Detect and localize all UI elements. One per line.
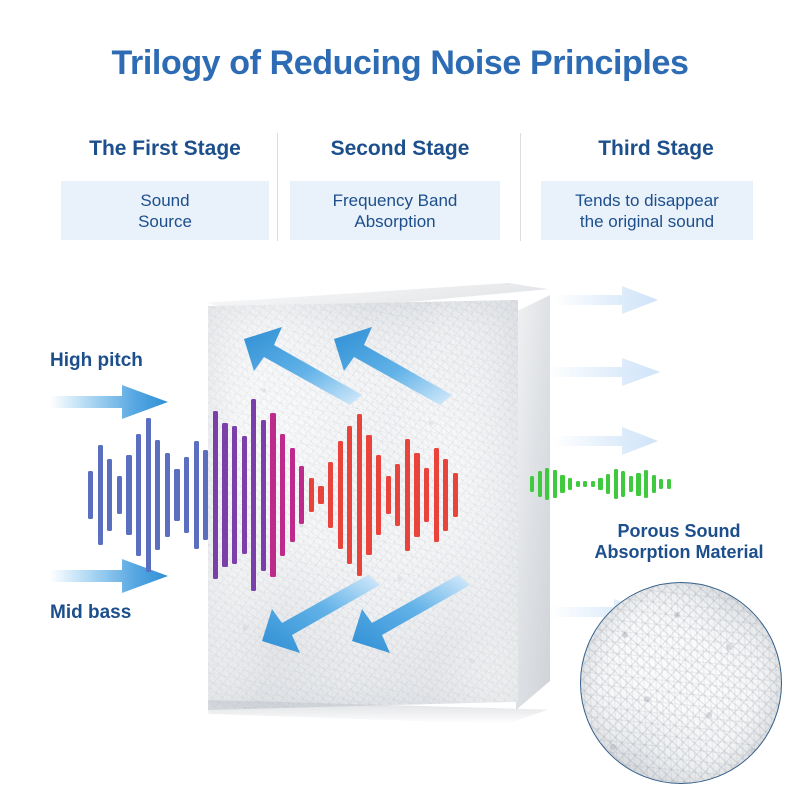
waveform-bar — [443, 459, 448, 531]
waveform-bar — [232, 426, 237, 564]
stage-box-first-line1: Sound — [138, 190, 192, 211]
waveform-bar — [591, 481, 595, 487]
waveform-bar — [453, 473, 458, 517]
stage-box-third: Tends to disappear the original sound — [541, 181, 753, 240]
stage-box-third-line2: the original sound — [575, 211, 719, 232]
waveform-bar — [117, 476, 122, 514]
waveform-bar — [299, 466, 304, 525]
waveform-bar — [395, 464, 400, 525]
waveform-bar — [155, 440, 160, 550]
label-high-pitch: High pitch — [50, 350, 143, 372]
stage-box-second-line1: Frequency Band — [333, 190, 458, 211]
stage-box-second-line2: Absorption — [333, 211, 458, 232]
stage-box-first: Sound Source — [61, 181, 269, 240]
page-title: Trilogy of Reducing Noise Principles — [0, 44, 800, 83]
stage-divider-2 — [520, 133, 521, 241]
waveform-bar — [338, 441, 343, 549]
waveform-bar — [644, 470, 648, 498]
waveform-bar — [530, 476, 534, 492]
stage-heading-second: Second Stage — [288, 137, 512, 161]
waveform-bar — [242, 436, 247, 554]
waveform-bar — [386, 476, 391, 514]
stage-heading-third: Third Stage — [532, 137, 780, 161]
waveform-bar — [538, 471, 542, 496]
waveform-bar — [424, 468, 429, 522]
label-porous-line1: Porous Sound — [618, 521, 741, 541]
waveform-bar — [667, 479, 671, 489]
waveform-bar — [606, 474, 610, 495]
waveform-bar — [560, 475, 564, 493]
waveform-bar — [184, 457, 189, 534]
waveform-bar — [126, 455, 131, 534]
waveform-bar — [261, 420, 266, 571]
waveform-bar — [309, 478, 314, 511]
stage-divider-1 — [277, 133, 278, 241]
waveform-bar — [434, 448, 439, 543]
label-mid-bass: Mid bass — [50, 602, 131, 624]
waveform-bar — [376, 455, 381, 534]
stage-box-second: Frequency Band Absorption — [290, 181, 500, 240]
waveform-bar — [614, 469, 618, 499]
waveform-bar — [347, 426, 352, 564]
waveform-bar — [583, 481, 587, 487]
stage-box-third-line1: Tends to disappear — [575, 190, 719, 211]
waveform-bar — [98, 445, 103, 545]
waveform-bar — [290, 448, 295, 543]
stage-heading-first: The First Stage — [60, 137, 270, 161]
waveform-bar — [165, 453, 170, 537]
waveform-bar — [652, 475, 656, 493]
magnified-material-circle — [580, 582, 782, 784]
waveform-bar — [568, 478, 572, 490]
waveform-bar — [194, 441, 199, 549]
waveform-bar — [280, 434, 285, 557]
label-porous-material: Porous Sound Absorption Material — [563, 521, 795, 563]
waveform-bar — [576, 481, 580, 487]
waveform-bar — [136, 434, 141, 557]
waveform-bar — [174, 469, 179, 520]
waveform-bar — [629, 476, 633, 492]
waveform-bar — [405, 439, 410, 552]
waveform-bar — [366, 435, 371, 555]
waveform-bar — [357, 414, 362, 575]
waveform-bar — [553, 470, 557, 498]
waveform-bar — [318, 486, 323, 504]
residual-waveform-chart — [530, 462, 680, 506]
waveform-bar — [598, 478, 602, 490]
stage-box-first-line2: Source — [138, 211, 192, 232]
label-porous-line2: Absorption Material — [594, 542, 763, 562]
sound-waveform-chart — [88, 330, 378, 660]
waveform-bar — [222, 423, 227, 566]
waveform-bar — [251, 399, 256, 591]
infographic-canvas: Trilogy of Reducing Noise Principles The… — [0, 0, 800, 800]
waveform-bar — [88, 471, 93, 520]
waveform-bar — [621, 471, 625, 496]
waveform-bar — [107, 459, 112, 531]
waveform-bar — [146, 418, 151, 572]
waveform-bar — [328, 462, 333, 529]
waveform-bar — [203, 450, 208, 540]
waveform-bar — [414, 453, 419, 537]
waveform-bar — [270, 413, 275, 577]
waveform-bar — [545, 468, 549, 500]
waveform-bar — [659, 479, 663, 489]
waveform-bar — [213, 411, 218, 580]
waveform-bar — [636, 473, 640, 496]
